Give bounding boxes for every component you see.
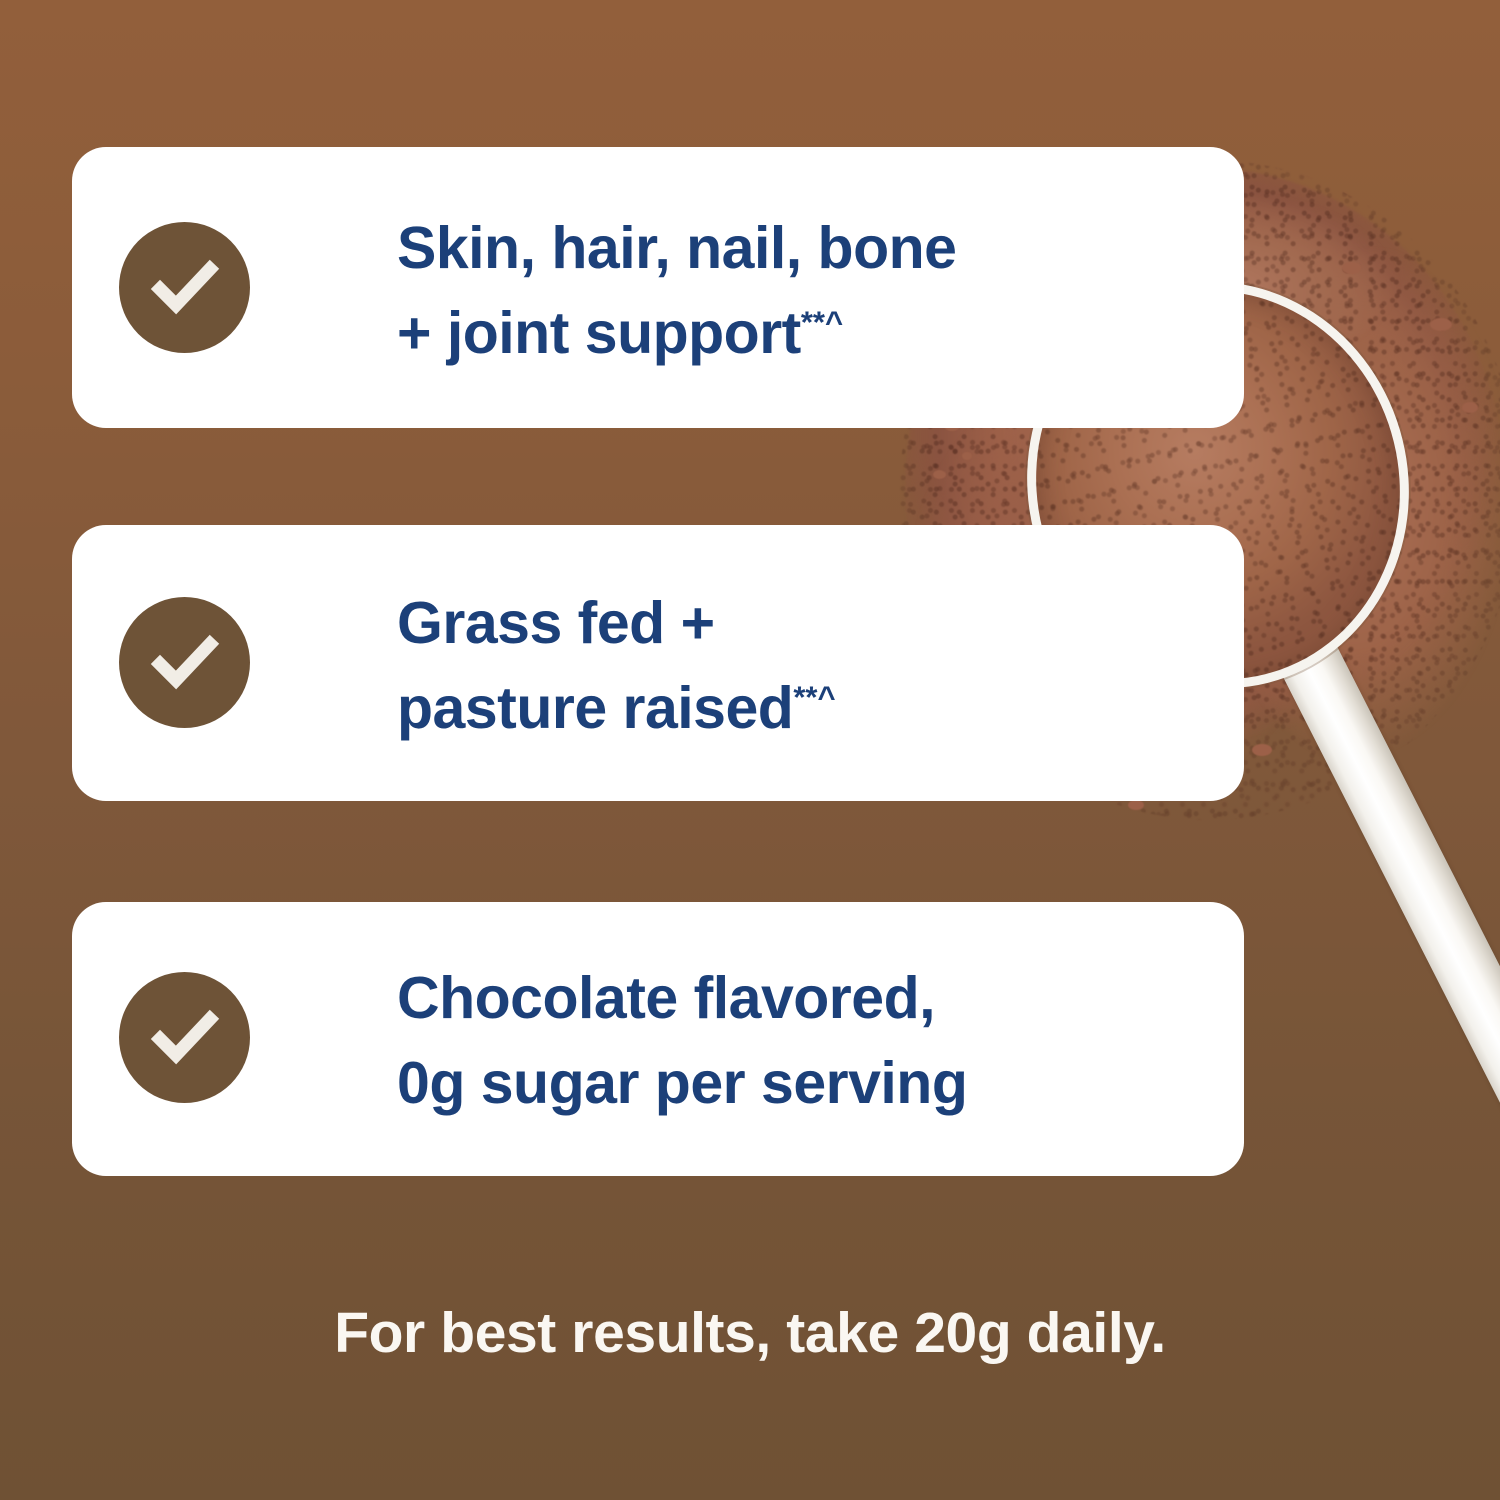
benefit-card: Chocolate flavored, 0g sugar per serving <box>72 902 1244 1176</box>
dosage-note: For best results, take 20g daily. <box>0 1300 1500 1366</box>
benefit-superscript: **^ <box>793 679 835 714</box>
benefit-line-1: Skin, hair, nail, bone <box>397 215 956 281</box>
benefit-text: Chocolate flavored, 0g sugar per serving <box>397 956 967 1126</box>
benefit-line-1: Chocolate flavored, <box>397 965 935 1031</box>
benefit-line-2: + joint support <box>397 300 801 366</box>
benefit-card: Grass fed + pasture raised**^ <box>72 525 1244 801</box>
benefit-text: Skin, hair, nail, bone + joint support**… <box>397 206 956 376</box>
benefit-line-1: Grass fed + <box>397 590 715 656</box>
benefit-line-2: 0g sugar per serving <box>397 1050 967 1116</box>
benefit-superscript: **^ <box>801 304 843 339</box>
benefit-line-2: pasture raised <box>397 675 793 741</box>
check-icon <box>119 972 250 1103</box>
benefit-card: Skin, hair, nail, bone + joint support**… <box>72 147 1244 428</box>
check-icon <box>119 222 250 353</box>
benefit-text: Grass fed + pasture raised**^ <box>397 581 836 751</box>
promo-panel: Skin, hair, nail, bone + joint support**… <box>0 0 1500 1500</box>
check-icon <box>119 597 250 728</box>
benefit-card-list: Skin, hair, nail, bone + joint support**… <box>0 0 1500 1500</box>
